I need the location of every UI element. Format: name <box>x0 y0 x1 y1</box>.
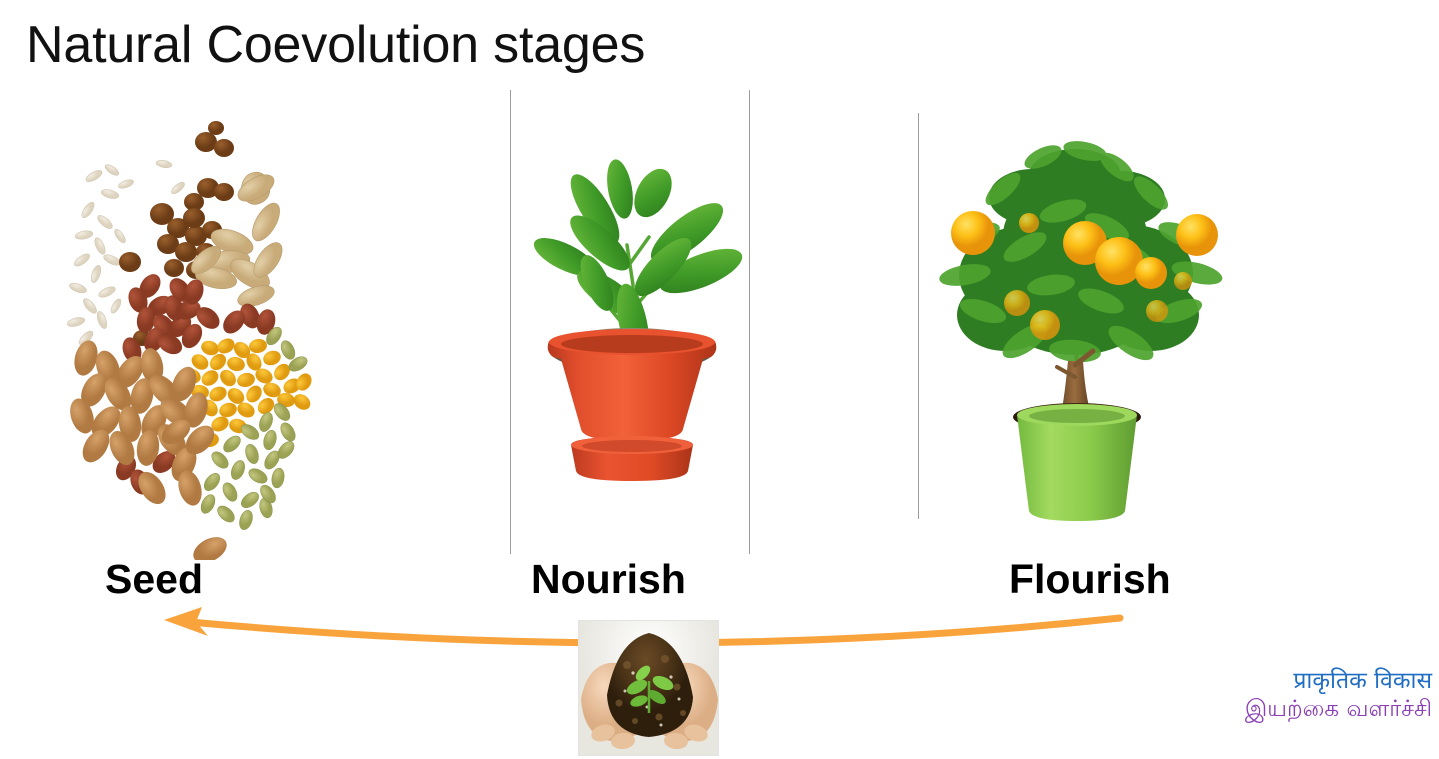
stage-label-seed: Seed <box>105 556 203 603</box>
translation-hindi: प्राकृतिक विकास <box>1293 668 1432 694</box>
hands-holding-soil-svg <box>579 621 719 756</box>
seed-pile-svg <box>60 110 360 560</box>
stage-label-flourish: Flourish <box>1009 556 1171 603</box>
seed-pile-image <box>60 110 360 560</box>
stage-label-nourish: Nourish <box>531 556 686 603</box>
seedling-pot-image <box>505 145 760 520</box>
divider-line-right <box>918 113 919 519</box>
slide-canvas: Natural Coevolution stages <box>0 0 1439 759</box>
seedling-pot-svg <box>505 145 760 520</box>
citrus-tree-svg <box>925 115 1255 525</box>
translation-tamil: இயற்கை வளர்ச்சி <box>1245 696 1432 722</box>
citrus-tree-image <box>925 115 1255 525</box>
page-title: Natural Coevolution stages <box>26 16 645 74</box>
hands-holding-soil-photo <box>578 620 719 756</box>
